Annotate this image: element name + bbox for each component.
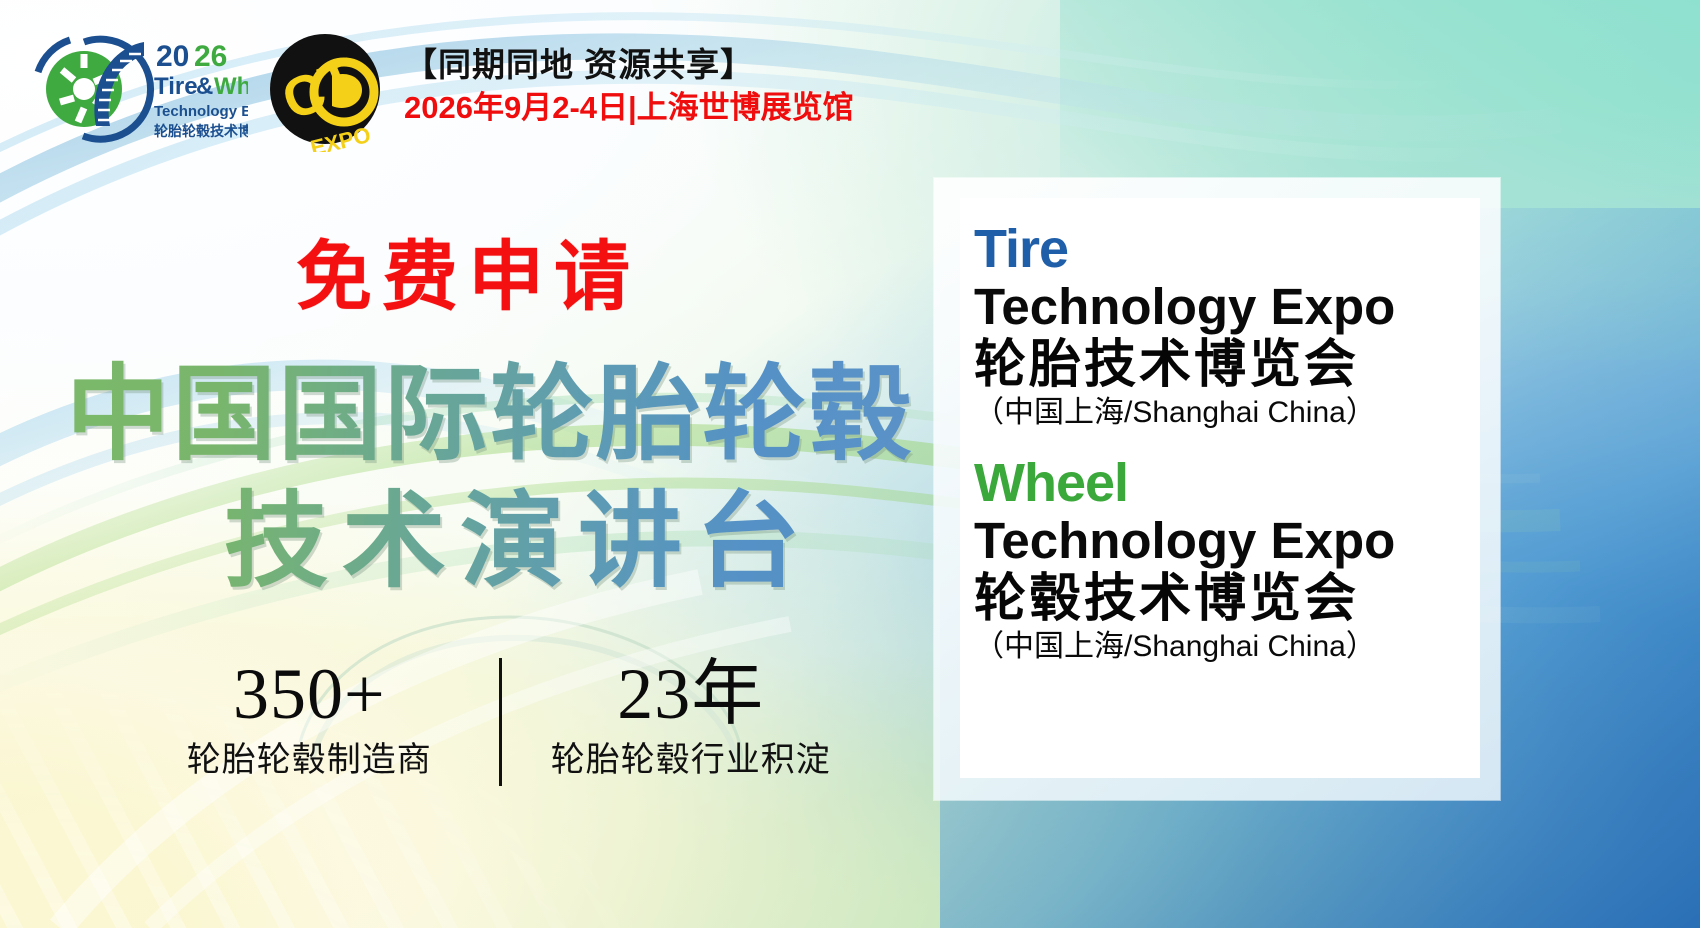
- header-date-venue-line: 2026年9月2-4日|上海世博展览馆: [404, 88, 1104, 128]
- page-title: 中国国际轮胎轮毂 技术演讲台: [66, 352, 914, 606]
- stat-label: 轮胎轮毂行业积淀: [512, 744, 871, 778]
- wheel-subtitle-cn: 轮毂技术博览会: [974, 570, 1480, 628]
- page-title-line2: 技术演讲台: [224, 479, 914, 606]
- expo-panel: Tire Technology Expo 轮胎技术博览会 （中国上海/Shang…: [960, 198, 1480, 778]
- svg-text:20: 20: [156, 40, 189, 73]
- tire-location: （中国上海/Shanghai China）: [974, 396, 1480, 431]
- svg-text:26: 26: [194, 40, 227, 73]
- page-title-line1: 中国国际轮胎轮毂: [66, 357, 914, 473]
- wheel-subtitle-en: Technology Expo: [974, 514, 1480, 568]
- stats-divider: [499, 658, 502, 786]
- stat-number: 23年: [512, 658, 871, 730]
- stat-number: 350+: [130, 658, 489, 730]
- wheel-location: （中国上海/Shanghai China）: [974, 630, 1480, 665]
- svg-text:Wh: Wh: [214, 73, 248, 100]
- poster-canvas: 20 26 Tire & Wh Technology Expo 轮胎轮毂技术博览…: [0, 0, 1700, 928]
- svg-text:轮胎轮毂技术博览会: 轮胎轮毂技术博览会: [154, 123, 248, 139]
- tire-subtitle-en: Technology Expo: [974, 280, 1480, 334]
- stat-label: 轮胎轮毂制造商: [130, 744, 489, 778]
- header-text-block: 【同期同地 资源共享】 2026年9月2-4日|上海世博展览馆: [404, 44, 1104, 129]
- stat-item-years: 23年 轮胎轮毂行业积淀: [512, 652, 871, 778]
- wheel-brand-word: Wheel: [974, 456, 1480, 510]
- stats-row: 350+ 轮胎轮毂制造商 23年 轮胎轮毂行业积淀: [130, 652, 870, 812]
- stat-item-manufacturers: 350+ 轮胎轮毂制造商: [130, 652, 489, 778]
- tire-wheel-logo-icon: 20 26 Tire & Wh Technology Expo 轮胎轮毂技术博览…: [18, 24, 248, 154]
- tire-brand-word: Tire: [974, 222, 1480, 276]
- svg-text:&: &: [196, 73, 213, 100]
- expo-panel-wheel-block: Wheel Technology Expo 轮毂技术博览会 （中国上海/Shan…: [960, 456, 1480, 664]
- svg-text:Tire: Tire: [154, 73, 198, 100]
- tire-subtitle-cn: 轮胎技术博览会: [974, 336, 1480, 394]
- ct-expo-logo-icon: CT EXPO: [266, 34, 384, 152]
- expo-panel-tire-block: Tire Technology Expo 轮胎技术博览会 （中国上海/Shang…: [960, 222, 1480, 430]
- svg-text:Technology Expo: Technology Expo: [154, 103, 248, 120]
- header-bracket-line: 【同期同地 资源共享】: [404, 44, 1104, 85]
- free-apply-badge: 免费申请: [296, 240, 640, 316]
